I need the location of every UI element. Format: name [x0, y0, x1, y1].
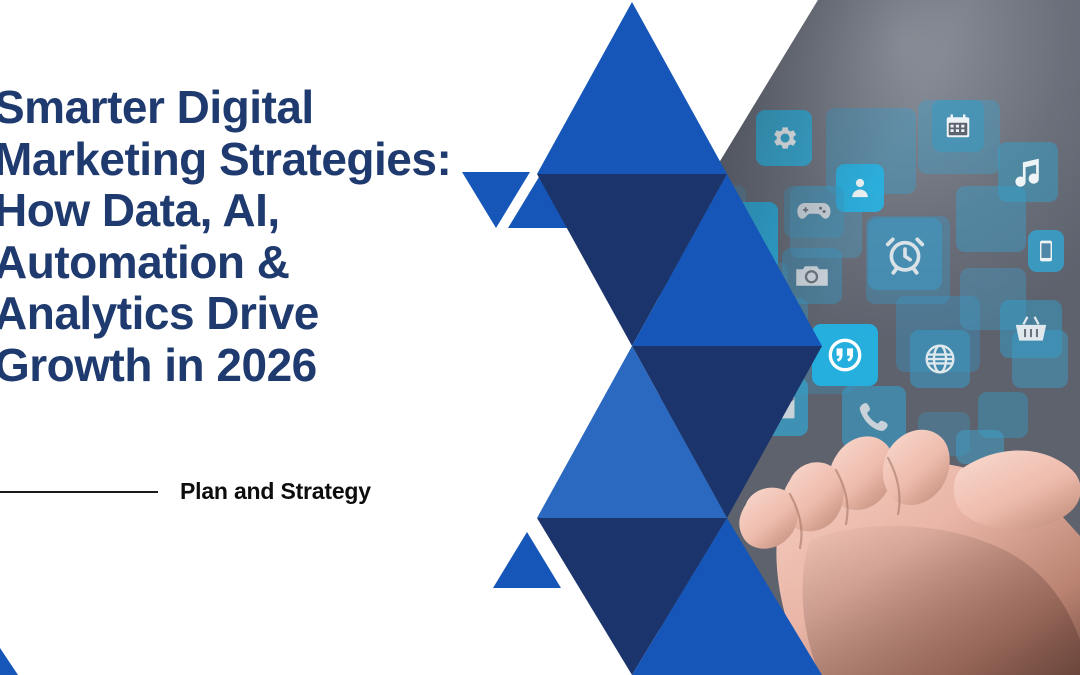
page-title: Smarter Digital Marketing Strategies: Ho…	[0, 82, 464, 391]
subtitle-divider-rule	[0, 491, 158, 493]
corner-triangle-bottom-left	[0, 648, 18, 675]
headline-block: Smarter Digital Marketing Strategies: Ho…	[0, 82, 464, 391]
large-up-triangle-top	[537, 2, 727, 174]
banner-canvas: Smarter Digital Marketing Strategies: Ho…	[0, 0, 1080, 675]
subtitle-label: Plan and Strategy	[180, 478, 371, 505]
subtitle-block: Plan and Strategy	[0, 478, 440, 505]
